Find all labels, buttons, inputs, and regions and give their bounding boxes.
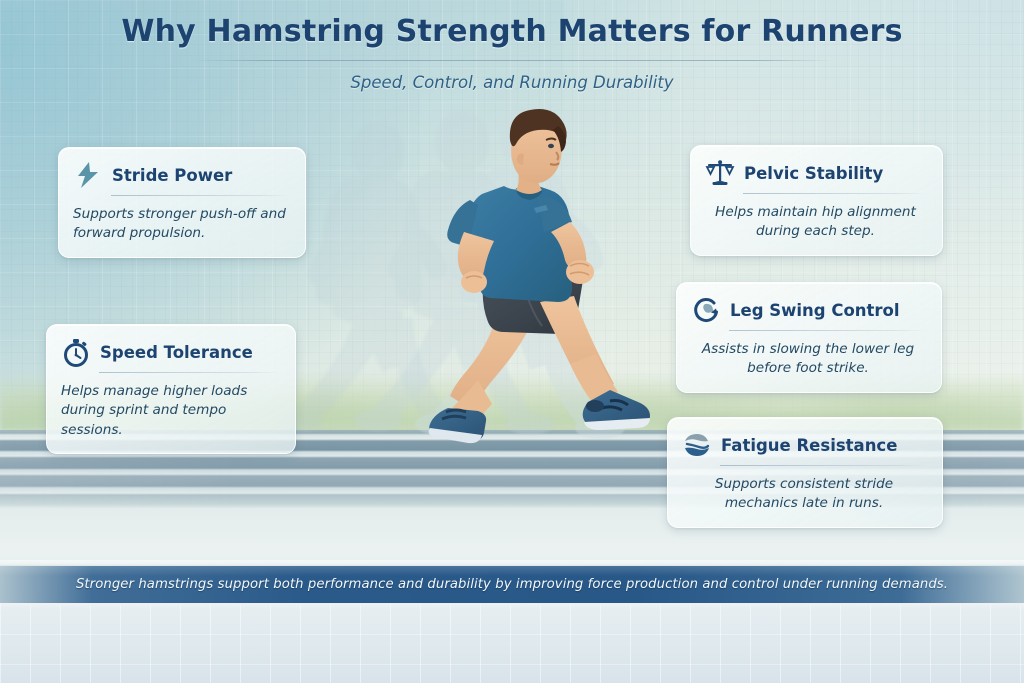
card-leg-swing-control[interactable]: Leg Swing Control Assists in slowing the… — [676, 282, 942, 393]
page-title: Why Hamstring Strength Matters for Runne… — [0, 14, 1024, 49]
card-divider — [99, 372, 279, 373]
header: Why Hamstring Strength Matters for Runne… — [0, 14, 1024, 92]
card-body: Supports consistent stride mechanics lat… — [682, 475, 926, 514]
card-fatigue-resistance[interactable]: Fatigue Resistance Supports consistent s… — [667, 417, 943, 528]
card-header: Pelvic Stability — [705, 158, 926, 188]
card-pelvic-stability[interactable]: Pelvic Stability Helps maintain hip alig… — [690, 145, 943, 256]
card-divider — [743, 193, 926, 194]
card-title: Speed Tolerance — [100, 343, 253, 362]
card-title: Fatigue Resistance — [721, 436, 897, 455]
footer-sheen — [0, 566, 1024, 576]
foreground-grid — [0, 604, 1024, 683]
footer-bottom-highlight — [0, 603, 1024, 608]
stopwatch-icon — [61, 337, 91, 367]
card-divider — [720, 465, 926, 466]
page-subtitle: Speed, Control, and Running Durability — [0, 73, 1024, 92]
runner-illustration — [270, 96, 690, 496]
footer-summary-text: Stronger hamstrings support both perform… — [76, 577, 948, 592]
card-title: Pelvic Stability — [744, 164, 883, 183]
card-body: Supports stronger push-off and forward p… — [73, 205, 289, 244]
wave-swirl-icon — [682, 430, 712, 460]
card-divider — [729, 330, 925, 331]
card-speed-tolerance[interactable]: Speed Tolerance Helps manage higher load… — [46, 324, 296, 454]
infographic-canvas: Why Hamstring Strength Matters for Runne… — [0, 0, 1024, 683]
balance-scales-icon — [705, 158, 735, 188]
card-title: Leg Swing Control — [730, 301, 900, 320]
card-title: Stride Power — [112, 166, 232, 185]
card-header: Speed Tolerance — [61, 337, 279, 367]
card-body: Assists in slowing the lower leg before … — [691, 340, 925, 379]
lightning-bolt-icon — [73, 160, 103, 190]
card-header: Fatigue Resistance — [682, 430, 926, 460]
footer-banner: Stronger hamstrings support both perform… — [0, 566, 1024, 603]
card-body: Helps maintain hip alignment during each… — [705, 203, 926, 242]
card-divider — [111, 195, 289, 196]
circular-arrow-icon — [691, 295, 721, 325]
title-divider — [192, 60, 832, 61]
card-stride-power[interactable]: Stride Power Supports stronger push-off … — [58, 147, 306, 258]
card-body: Helps manage higher loads during sprint … — [61, 382, 279, 440]
card-header: Stride Power — [73, 160, 289, 190]
card-header: Leg Swing Control — [691, 295, 925, 325]
